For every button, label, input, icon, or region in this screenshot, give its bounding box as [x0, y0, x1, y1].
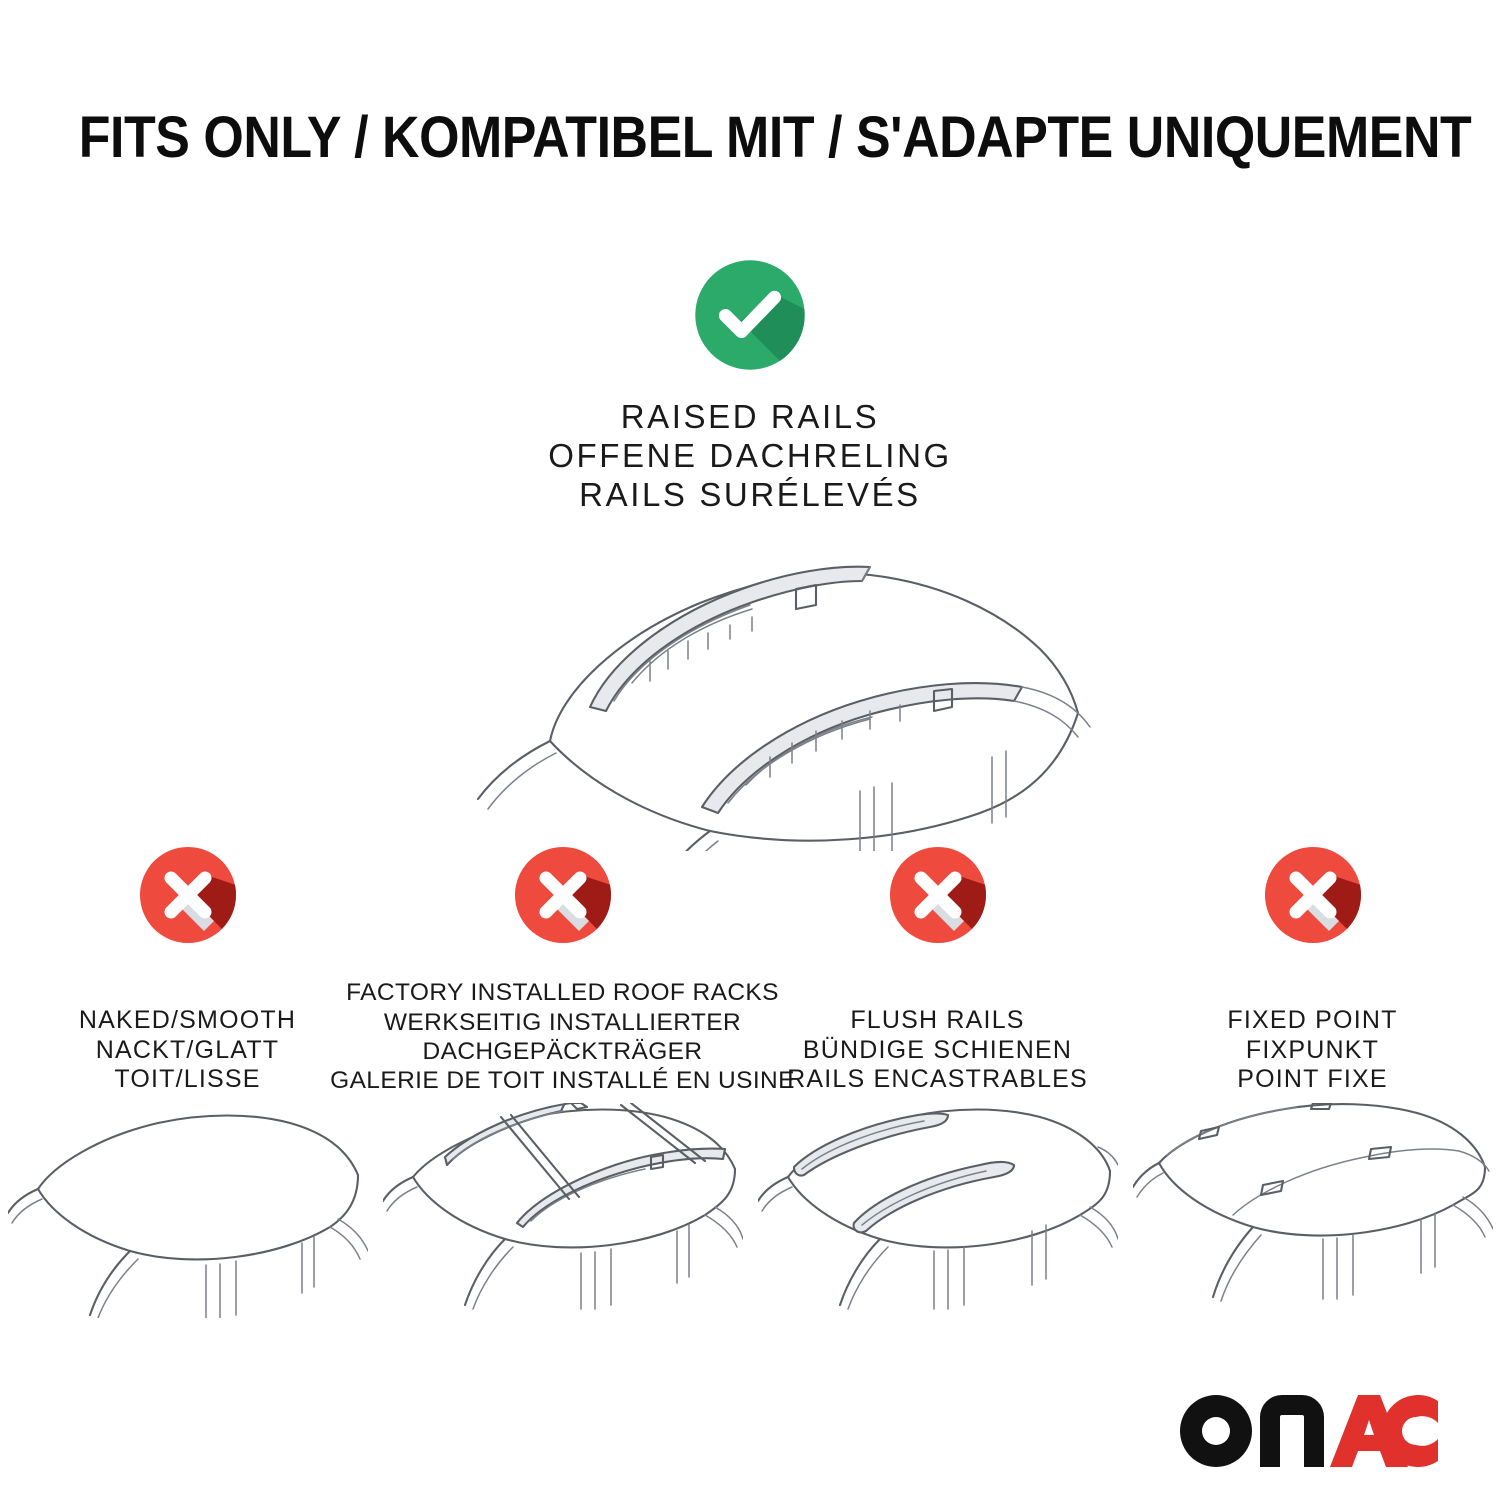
omac-logo-letter-o — [1180, 1395, 1252, 1467]
incompatible-grid: NAKED/SMOOTH NACKT/GLATT TOIT/LISSE — [0, 845, 1500, 1318]
incompatible-labels-4: FIXED POINT FIXPUNKT POINT FIXE — [1227, 1006, 1397, 1095]
page-title: FITS ONLY / KOMPATIBEL MIT / S'ADAPTE UN… — [79, 104, 1422, 171]
incompatible-4-label-en: FIXED POINT — [1227, 1006, 1397, 1036]
incompatible-column-flush-rails: FLUSH RAILS BÜNDIGE SCHIENEN RAILS ENCAS… — [750, 845, 1125, 1318]
compatible-section: RAISED RAILS OFFENE DACHRELING RAILS SUR… — [0, 258, 1500, 851]
car-roof-fixed-point-illustration — [1133, 1103, 1493, 1318]
cross-icon-wrapper-4 — [1263, 845, 1363, 965]
cross-icon-wrapper-3 — [888, 845, 988, 965]
compatible-label-fr: RAILS SURÉLEVÉS — [548, 476, 952, 515]
incompatible-2-label-de-2: DACHGEPÄCKTRÄGER — [330, 1037, 795, 1066]
compatible-label-de: OFFENE DACHRELING — [548, 437, 952, 476]
incompatible-3-label-en: FLUSH RAILS — [787, 1006, 1088, 1036]
incompatible-1-label-en: NAKED/SMOOTH — [79, 1006, 296, 1036]
car-roof-naked-smooth-illustration — [8, 1103, 368, 1318]
cross-circle-icon — [888, 845, 988, 945]
compatible-labels: RAISED RAILS OFFENE DACHRELING RAILS SUR… — [548, 398, 952, 515]
incompatible-3-label-de: BÜNDIGE SCHIENEN — [787, 1036, 1088, 1066]
car-roof-flush-rails-illustration — [758, 1103, 1118, 1318]
incompatible-labels-1: NAKED/SMOOTH NACKT/GLATT TOIT/LISSE — [79, 1006, 296, 1095]
omac-logo — [1180, 1395, 1438, 1467]
compatible-label-en: RAISED RAILS — [548, 398, 952, 437]
incompatible-labels-3: FLUSH RAILS BÜNDIGE SCHIENEN RAILS ENCAS… — [787, 1006, 1088, 1095]
incompatible-column-factory-rack: FACTORY INSTALLED ROOF RACKS WERKSEITIG … — [375, 845, 750, 1318]
omac-logo-letter-m — [1260, 1395, 1324, 1467]
incompatible-1-label-de: NACKT/GLATT — [79, 1036, 296, 1066]
incompatible-2-label-en: FACTORY INSTALLED ROOF RACKS — [330, 978, 795, 1007]
cross-circle-icon — [513, 845, 613, 945]
incompatible-2-label-de-1: WERKSEITIG INSTALLIERTER — [330, 1008, 795, 1037]
incompatible-labels-2: FACTORY INSTALLED ROOF RACKS WERKSEITIG … — [330, 978, 795, 1095]
cross-circle-icon — [138, 845, 238, 945]
incompatible-column-fixed-point: FIXED POINT FIXPUNKT POINT FIXE — [1125, 845, 1500, 1318]
check-circle-icon — [693, 258, 807, 372]
cross-icon-wrapper-1 — [138, 845, 238, 965]
car-roof-raised-rails-illustration — [400, 541, 1100, 851]
incompatible-2-label-fr: GALERIE DE TOIT INSTALLÉ EN USINE — [330, 1066, 795, 1095]
car-roof-factory-roof-rack-illustration — [383, 1103, 743, 1318]
incompatible-4-label-de: FIXPUNKT — [1227, 1036, 1397, 1066]
cross-icon-wrapper-2 — [513, 845, 613, 965]
incompatible-column-naked-smooth: NAKED/SMOOTH NACKT/GLATT TOIT/LISSE — [0, 845, 375, 1318]
incompatible-3-label-fr: RAILS ENCASTRABLES — [787, 1065, 1088, 1095]
cross-circle-icon — [1263, 845, 1363, 945]
incompatible-1-label-fr: TOIT/LISSE — [79, 1065, 296, 1095]
incompatible-4-label-fr: POINT FIXE — [1227, 1065, 1397, 1095]
